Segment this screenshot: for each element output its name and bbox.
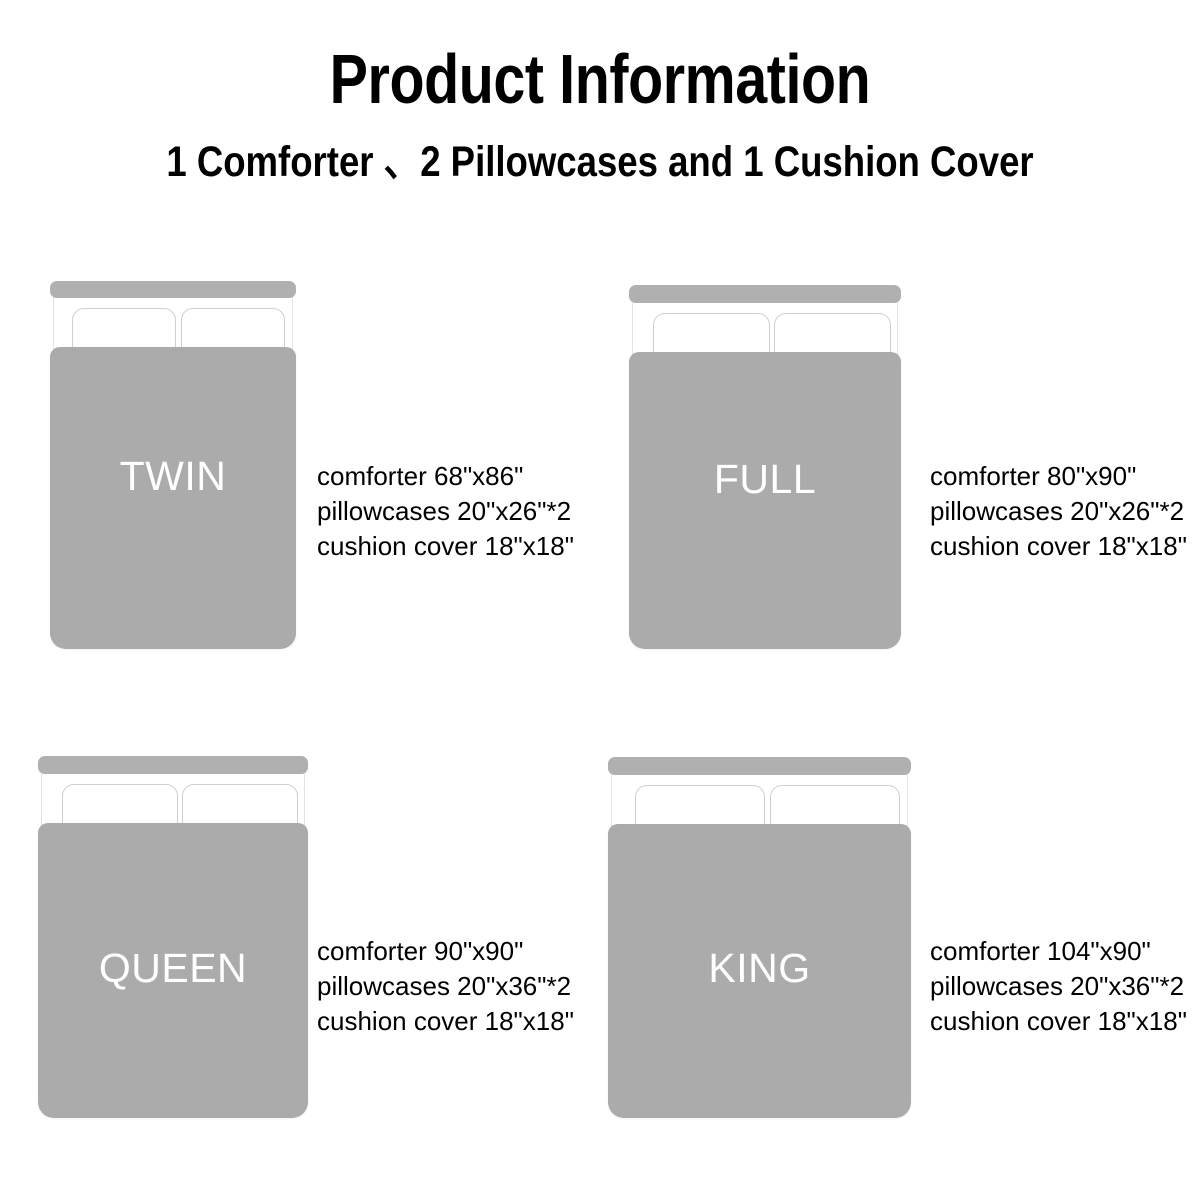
bed-diagram-king: KING <box>608 757 911 1118</box>
bed-block-full: FULL <box>629 285 901 649</box>
specs-king: comforter 104"x90" pillowcases 20"x36"*2… <box>930 934 1187 1039</box>
headboard <box>629 285 901 303</box>
spec-cushion-cover: cushion cover 18"x18" <box>317 1004 574 1039</box>
bed-block-twin: TWIN <box>50 281 296 649</box>
bed-diagram-full: FULL <box>629 285 901 649</box>
spec-comforter: comforter 104"x90" <box>930 934 1187 969</box>
comforter: KING <box>608 824 911 1118</box>
spec-pillowcases: pillowcases 20"x36"*2 <box>930 969 1187 1004</box>
specs-full: comforter 80"x90" pillowcases 20"x26"*2 … <box>930 459 1187 564</box>
spec-pillowcases: pillowcases 20"x26"*2 <box>317 494 574 529</box>
bed-size-label-queen: QUEEN <box>38 944 308 992</box>
bed-size-label-twin: TWIN <box>50 452 296 500</box>
bed-diagram-queen: QUEEN <box>38 756 308 1118</box>
headboard <box>608 757 911 775</box>
spec-comforter: comforter 68"x86" <box>317 459 574 494</box>
bed-size-label-full: FULL <box>629 455 901 503</box>
page-subtitle: 1 Comforter 、2 Pillowcases and 1 Cushion… <box>90 136 1110 188</box>
spec-comforter: comforter 80"x90" <box>930 459 1187 494</box>
spec-pillowcases: pillowcases 20"x36"*2 <box>317 969 574 1004</box>
specs-queen: comforter 90"x90" pillowcases 20"x36"*2 … <box>317 934 574 1039</box>
spec-comforter: comforter 90"x90" <box>317 934 574 969</box>
specs-twin: comforter 68"x86" pillowcases 20"x26"*2 … <box>317 459 574 564</box>
bed-diagram-twin: TWIN <box>50 281 296 649</box>
bed-block-queen: QUEEN <box>38 756 308 1118</box>
headboard <box>50 281 296 298</box>
spec-cushion-cover: cushion cover 18"x18" <box>930 1004 1187 1039</box>
comforter: QUEEN <box>38 823 308 1118</box>
spec-cushion-cover: cushion cover 18"x18" <box>317 529 574 564</box>
comforter: FULL <box>629 352 901 649</box>
bed-block-king: KING <box>608 757 911 1118</box>
comforter: TWIN <box>50 347 296 649</box>
headboard <box>38 756 308 774</box>
page-title: Product Information <box>108 40 1092 118</box>
bed-size-label-king: KING <box>608 944 911 992</box>
spec-pillowcases: pillowcases 20"x26"*2 <box>930 494 1187 529</box>
spec-cushion-cover: cushion cover 18"x18" <box>930 529 1187 564</box>
